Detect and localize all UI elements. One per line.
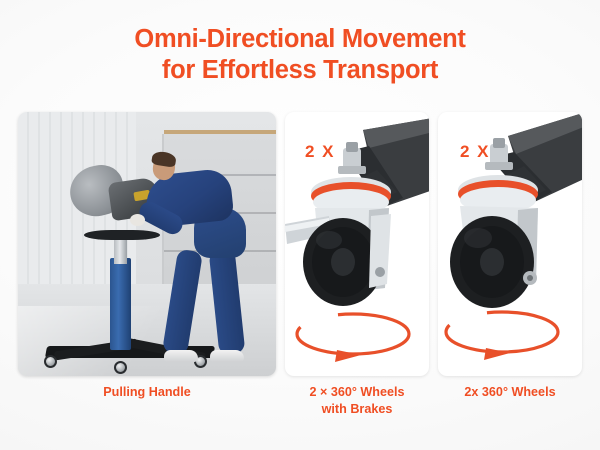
jack-saddle-tray (84, 230, 160, 240)
caption-line: Pulling Handle (18, 384, 276, 401)
caster-axle-nut (375, 267, 385, 277)
caption-wheels-with-brakes: 2 × 360° Wheels with Brakes (285, 384, 429, 440)
rotation-arc (446, 312, 558, 352)
panel-wheels-no-brakes: 2 X (438, 112, 582, 376)
title-line-2: for Effortless Transport (0, 55, 600, 86)
caption-row: Pulling Handle 2 × 360° Wheels with Brak… (18, 384, 582, 440)
caption-line: 2 × 360° Wheels (285, 384, 429, 401)
caption-line: with Brakes (285, 401, 429, 418)
caption-line: 2x 360° Wheels (438, 384, 582, 401)
caster-plain-illustration (438, 112, 582, 376)
jack-caster-wheel (44, 355, 57, 368)
page-title: Omni-Directional Movement for Effortless… (0, 24, 600, 86)
feature-panel-row: 2 X (18, 112, 582, 376)
rotation-arrowhead (484, 348, 510, 360)
caption-wheels-no-brakes: 2x 360° Wheels (438, 384, 582, 440)
garage-scene-photo (18, 112, 276, 376)
rotation-arrowhead (335, 350, 361, 362)
mechanic-shoe (210, 350, 244, 362)
jack-caster-wheel (114, 361, 127, 374)
title-line-1: Omni-Directional Movement (0, 24, 600, 55)
caster-wheel-hub (331, 248, 355, 276)
mechanic-hand (130, 214, 145, 226)
panel-wheels-with-brakes: 2 X (285, 112, 429, 376)
rotation-arc (297, 314, 409, 354)
panel-pulling-handle (18, 112, 276, 376)
caption-pulling-handle: Pulling Handle (18, 384, 276, 440)
caster-with-brake-illustration (285, 112, 429, 376)
caster-wheel-hub (480, 248, 504, 276)
mechanic-shoe (164, 350, 198, 362)
jack-hydraulic-column (110, 258, 131, 350)
